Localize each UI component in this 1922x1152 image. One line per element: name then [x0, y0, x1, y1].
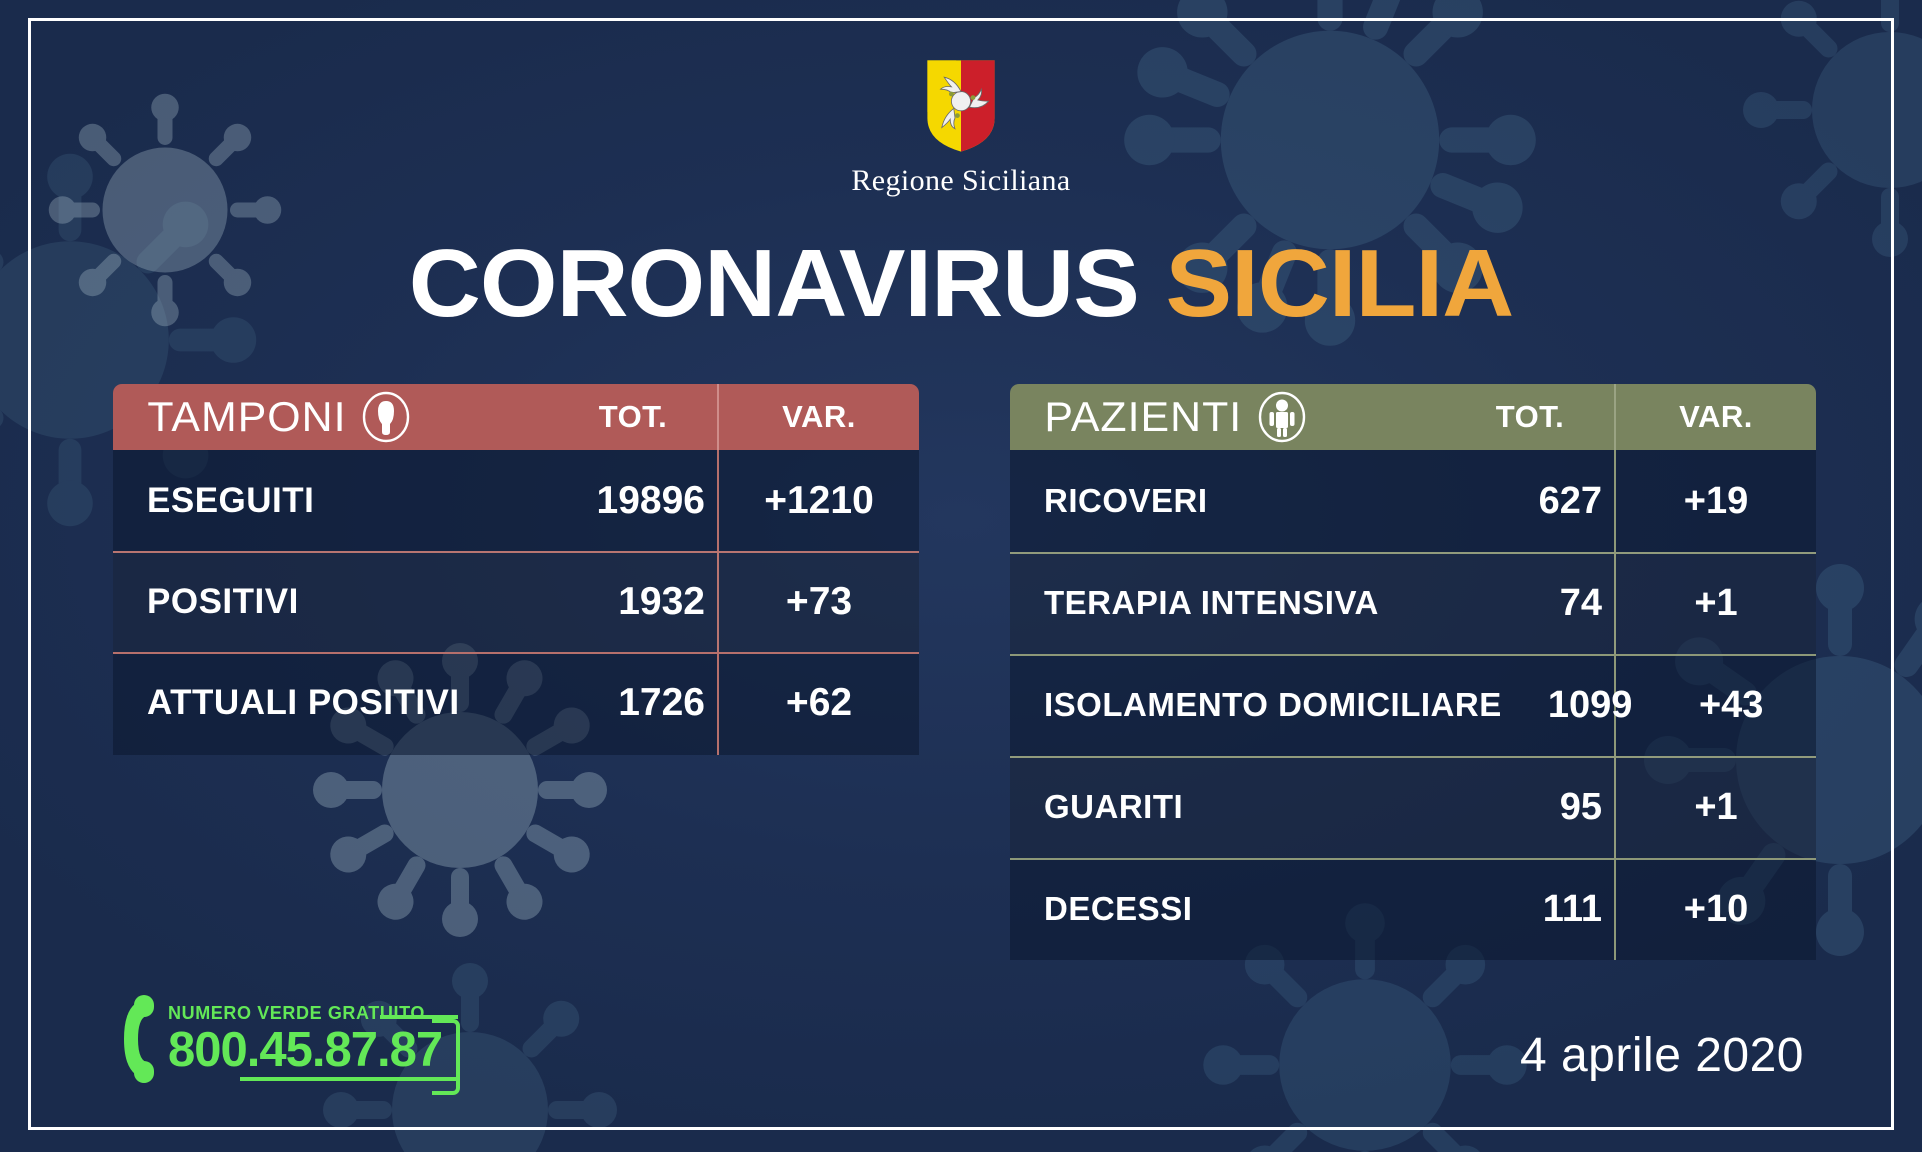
pazienti-row-1-variation: +1: [1616, 582, 1816, 625]
pazienti-row-2-label: ISOLAMENTO DOMICILIARE: [1010, 686, 1502, 724]
tamponi-row-0-variation: +1210: [719, 479, 919, 523]
tamponi-row-1-variation: +73: [719, 580, 919, 624]
pazienti-col-tot: TOT.: [1446, 399, 1614, 435]
tamponi-row-2-total: 1726: [551, 681, 719, 725]
region-name-label: Regione Siciliana: [851, 164, 1070, 198]
tamponi-table: TAMPONI TOT. VAR. ESEGUITI 19896 +1210 P…: [113, 384, 919, 755]
pazienti-table: PAZIENTI TOT. VAR. RICOVERI: [1010, 384, 1816, 960]
poster-canvas: Regione Siciliana CORONAVIRUS SICILIA TA…: [0, 0, 1922, 1152]
tamponi-row-0-label: ESEGUITI: [113, 481, 551, 521]
tamponi-table-body: ESEGUITI 19896 +1210 POSITIVI 1932 +73 A…: [113, 450, 919, 755]
table-row: ESEGUITI 19896 +1210: [113, 450, 919, 551]
pazienti-row-1-label: TERAPIA INTENSIVA: [1010, 584, 1448, 622]
pazienti-row-3-variation: +1: [1616, 786, 1816, 829]
tamponi-row-2-variation: +62: [719, 681, 919, 725]
tamponi-title: TAMPONI: [111, 393, 347, 441]
report-date: 4 aprile 2020: [1520, 1028, 1804, 1083]
hotline-number: 800.45.87.87: [168, 1026, 442, 1075]
page-title-word-coronavirus: CORONAVIRUS: [409, 230, 1139, 337]
tamponi-col-var: VAR.: [719, 399, 919, 435]
pazienti-row-3-total: 95: [1448, 786, 1616, 829]
table-row: TERAPIA INTENSIVA 74 +1: [1010, 552, 1816, 654]
pazienti-row-0-label: RICOVERI: [1010, 482, 1448, 520]
pazienti-table-body: RICOVERI 627 +19 TERAPIA INTENSIVA 74 +1…: [1010, 450, 1816, 960]
tamponi-table-header: TAMPONI TOT. VAR.: [113, 384, 919, 450]
hotline-frame-right: [432, 1019, 460, 1095]
patient-person-icon: [1256, 391, 1308, 443]
pazienti-title: PAZIENTI: [1008, 393, 1243, 441]
table-row: ATTUALI POSITIVI 1726 +62: [113, 652, 919, 753]
tamponi-row-1-label: POSITIVI: [113, 582, 551, 622]
table-row: RICOVERI 627 +19: [1010, 450, 1816, 552]
pazienti-row-4-label: DECESSI: [1010, 890, 1448, 928]
pazienti-row-3-label: GUARITI: [1010, 788, 1448, 826]
tamponi-col-tot: TOT.: [549, 399, 717, 435]
pazienti-row-0-total: 627: [1448, 480, 1616, 523]
pazienti-row-0-variation: +19: [1616, 480, 1816, 523]
table-row: ISOLAMENTO DOMICILIARE 1099 +43: [1010, 654, 1816, 756]
pazienti-row-2-variation: +43: [1646, 684, 1816, 727]
hotline-frame-bottom: [240, 1077, 458, 1081]
hotline-label: NUMERO VERDE GRATUITO: [168, 1003, 442, 1024]
pazienti-col-var: VAR.: [1616, 399, 1816, 435]
sicilian-trinacria-crest-icon: [925, 58, 997, 154]
phone-handset-icon: [112, 993, 156, 1085]
tamponi-row-2-label: ATTUALI POSITIVI: [113, 683, 551, 723]
pazienti-row-4-total: 111: [1448, 888, 1616, 931]
tamponi-row-1-total: 1932: [551, 580, 719, 624]
tamponi-row-0-total: 19896: [551, 479, 719, 523]
table-row: DECESSI 111 +10: [1010, 858, 1816, 960]
page-title-word-sicilia: SICILIA: [1165, 230, 1513, 337]
swab-icon: [360, 391, 412, 443]
pazienti-row-2-total: 1099: [1502, 684, 1647, 727]
table-row: POSITIVI 1932 +73: [113, 551, 919, 652]
pazienti-row-1-total: 74: [1448, 582, 1616, 625]
region-logo: Regione Siciliana: [0, 58, 1922, 198]
pazienti-table-header: PAZIENTI TOT. VAR.: [1010, 384, 1816, 450]
table-row: GUARITI 95 +1: [1010, 756, 1816, 858]
page-title: CORONAVIRUS SICILIA: [0, 236, 1922, 332]
hotline-block[interactable]: NUMERO VERDE GRATUITO 800.45.87.87: [112, 993, 442, 1085]
pazienti-row-4-variation: +10: [1616, 888, 1816, 931]
